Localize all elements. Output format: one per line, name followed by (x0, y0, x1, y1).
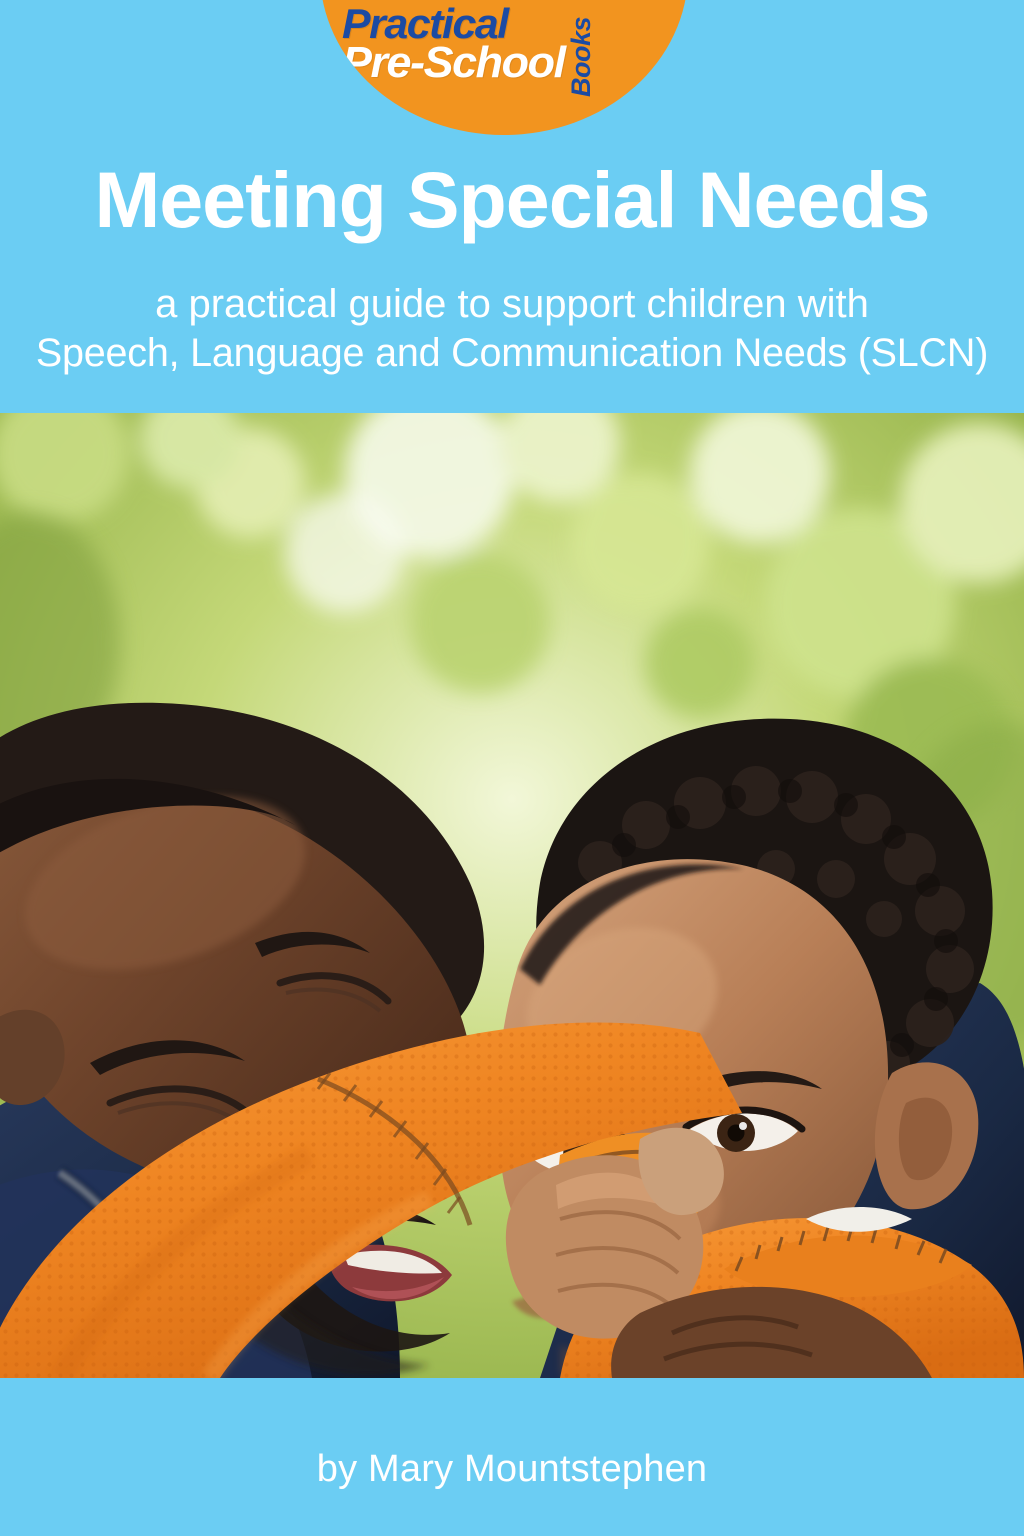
book-cover: Practical Pre-School Books Meeting Speci… (0, 0, 1024, 1536)
book-subtitle: a practical guide to support children wi… (0, 279, 1024, 379)
subtitle-line-2: Speech, Language and Communication Needs… (0, 329, 1024, 379)
title-area: Meeting Special Needs a practical guide … (0, 0, 1024, 413)
author-byline: by Mary Mountstephen (0, 1448, 1024, 1491)
cover-photograph-illustration (0, 413, 1024, 1378)
book-title: Meeting Special Needs (0, 159, 1024, 242)
subtitle-line-1: a practical guide to support children wi… (0, 279, 1024, 329)
cover-photograph (0, 413, 1024, 1378)
